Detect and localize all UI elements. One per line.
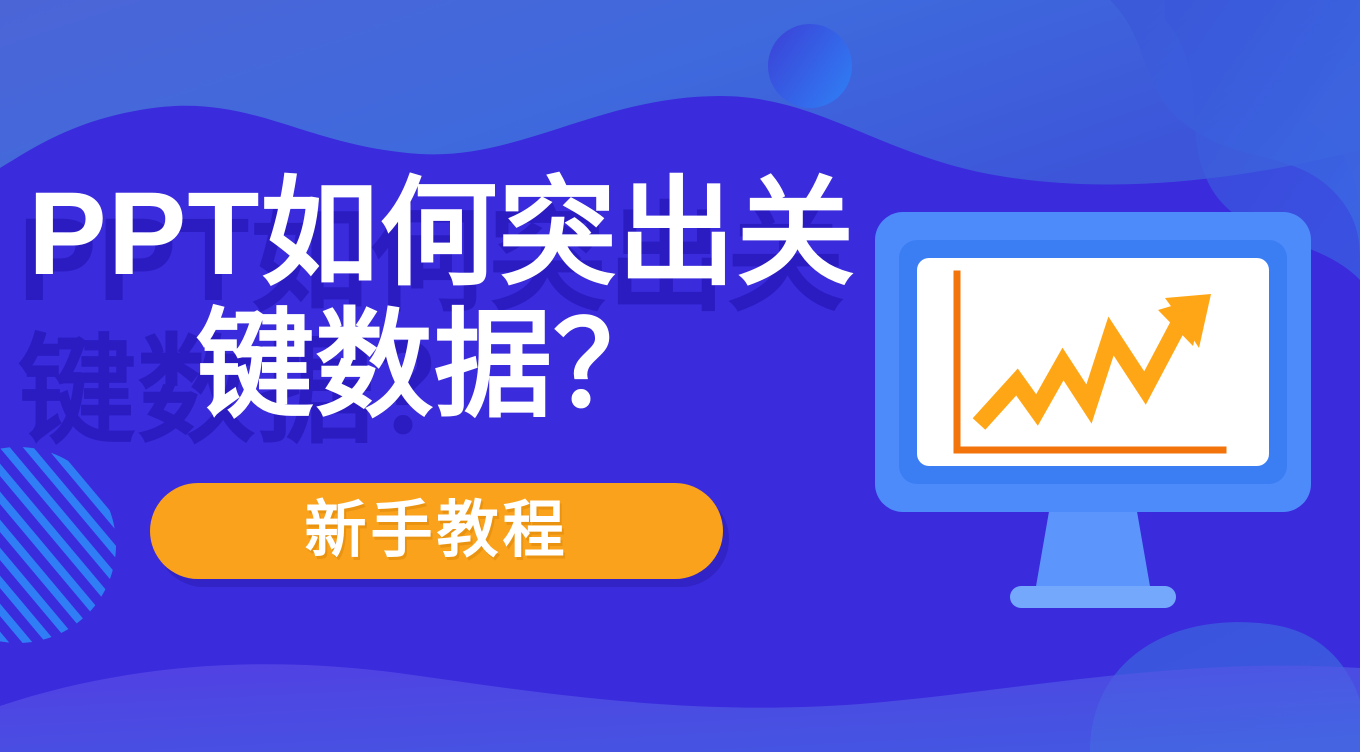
gradient-circle-shape [768, 24, 852, 108]
beginner-tutorial-button[interactable]: 新手教程 [150, 483, 723, 579]
title-block: PPT如何突出关 PPT如何突出关 键数据？ 键数据？ [0, 168, 880, 432]
monitor-screen [917, 258, 1269, 466]
title-line-1-text: PPT如何突出关 [28, 168, 856, 300]
monitor-svg [875, 212, 1311, 608]
title-line-2: 键数据？ 键数据？ [0, 300, 880, 432]
monitor-stand [1035, 500, 1151, 592]
monitor-illustration [875, 212, 1311, 608]
beginner-tutorial-label: 新手教程 [304, 500, 568, 562]
monitor-base [1010, 586, 1176, 608]
poster-canvas: PPT如何突出关 PPT如何突出关 键数据？ 键数据？ 新手教程 [0, 0, 1360, 752]
title-line-1: PPT如何突出关 PPT如何突出关 [0, 168, 880, 300]
title-line-2-text: 键数据？ [196, 300, 672, 432]
